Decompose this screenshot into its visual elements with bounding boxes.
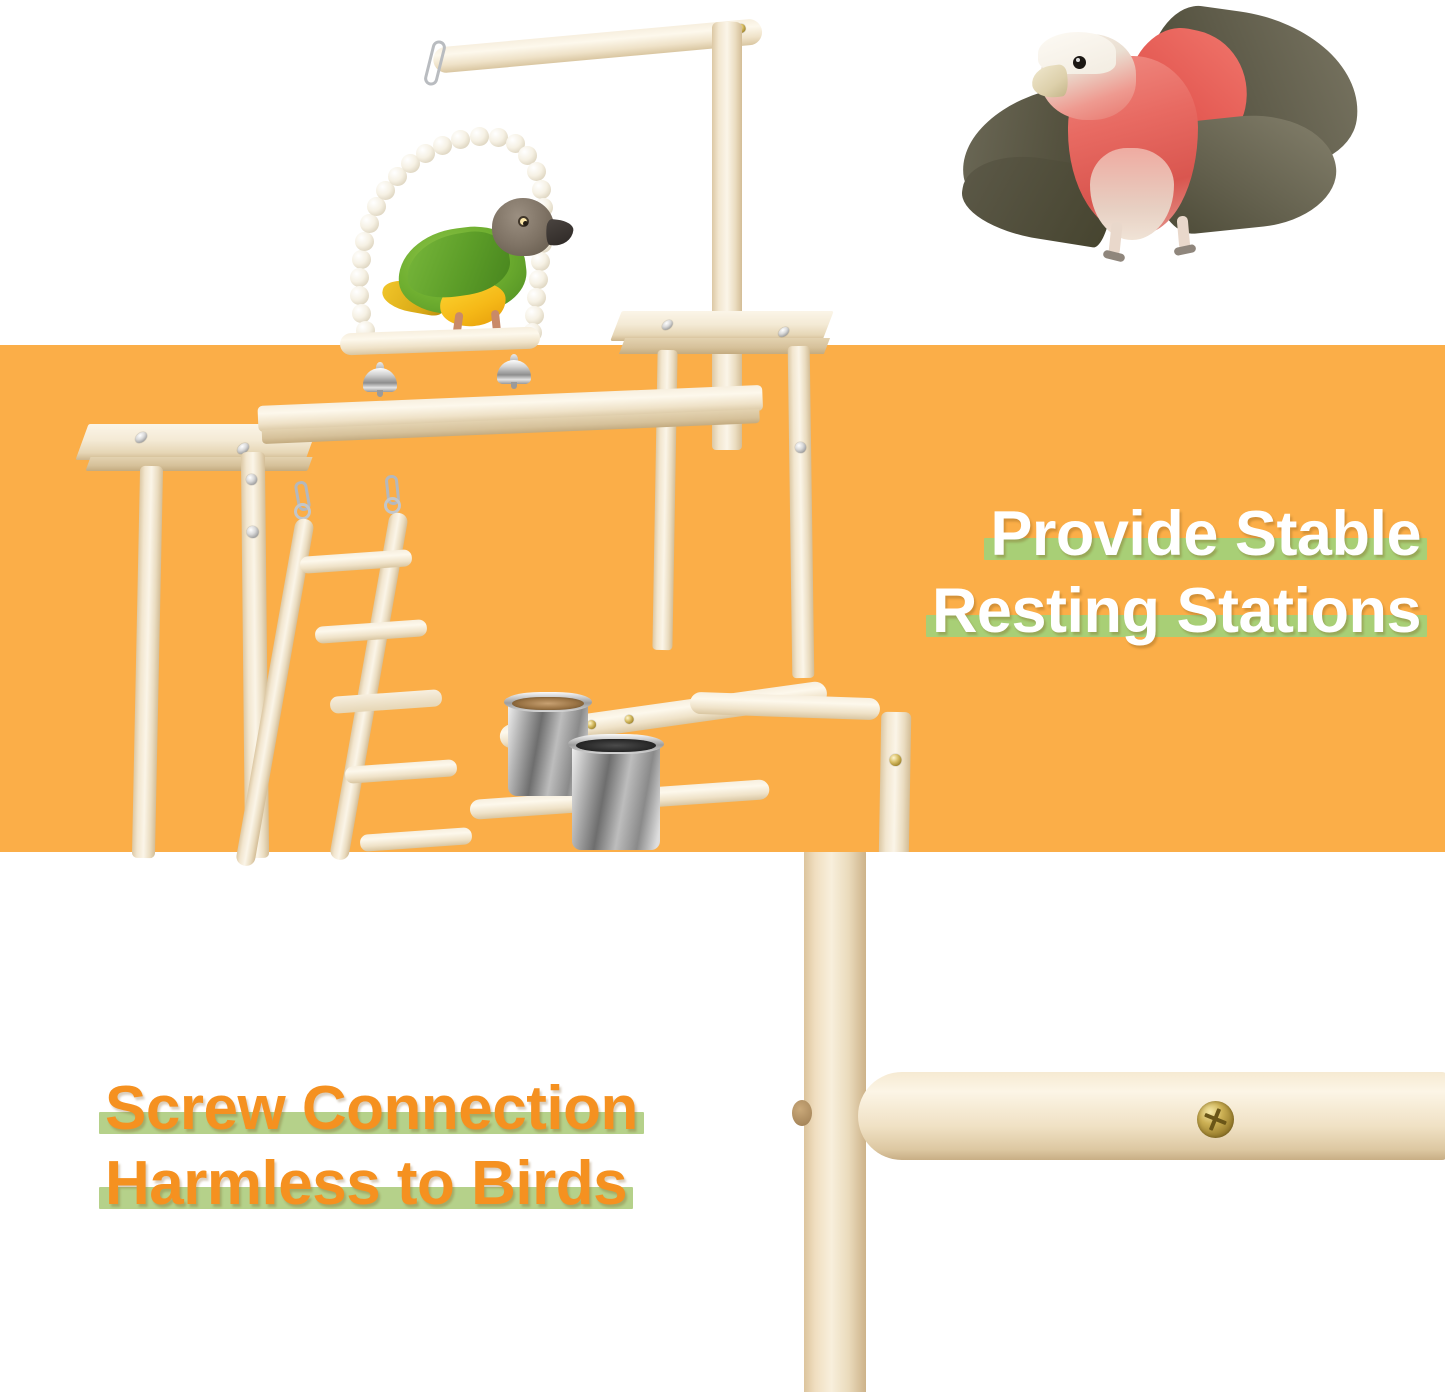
right-leg-back [788, 346, 815, 678]
left-leg-front [132, 466, 163, 858]
galah-claw-right [1173, 244, 1196, 256]
screw-head-icon [795, 442, 806, 453]
closeup-vertical-post [804, 852, 866, 1392]
closeup-post-peg [792, 1100, 812, 1126]
bell-left-icon [363, 362, 397, 392]
callout-bottom-text-1: Screw Connection [105, 1073, 638, 1144]
bird-stand-photo [0, 0, 900, 852]
screw-head-icon [889, 754, 901, 766]
callout-provide-stable-resting-stations: Provide Stable Resting Stations [932, 498, 1421, 652]
swing-bead [470, 127, 489, 146]
callout-screw-connection-harmless-to-birds: Screw Connection Harmless to Birds [105, 1073, 638, 1223]
screw-closeup-photo [780, 852, 1445, 1392]
screw-head-icon [777, 327, 791, 337]
parrot-head [492, 198, 554, 256]
swing-bead [433, 136, 452, 155]
brass-screw-icon [1197, 1101, 1234, 1138]
swing-bead [451, 130, 470, 149]
product-infographic: Provide Stable Resting Stations Screw Co… [0, 0, 1445, 1392]
swing-bead [527, 162, 546, 181]
galah-claw-left [1102, 249, 1125, 262]
callout-top-line-1: Provide Stable [990, 498, 1421, 570]
bell-right-icon [497, 354, 531, 384]
callout-bottom-text-2: Harmless to Birds [105, 1148, 627, 1219]
swing-bead [352, 250, 371, 269]
swing-bead [352, 304, 371, 323]
callout-bottom-line-1: Screw Connection [105, 1073, 638, 1144]
screw-head-icon [247, 526, 259, 538]
screw-head-icon [246, 474, 257, 485]
feeding-cup-water [572, 742, 660, 850]
left-platform-edge [85, 457, 312, 471]
right-perch-post [879, 712, 912, 863]
swing-bead [355, 232, 374, 251]
main-vertical-post [712, 22, 742, 352]
screw-head-icon [660, 320, 674, 330]
swing-bead [360, 214, 379, 233]
parrot-eye [518, 216, 529, 227]
callout-bottom-line-2: Harmless to Birds [105, 1148, 627, 1219]
parrot-beak [545, 219, 575, 248]
screw-head-icon [624, 714, 634, 724]
senegal-parrot [388, 190, 578, 350]
upper-right-platform [610, 311, 834, 341]
ladder-rung [360, 827, 473, 852]
swing-bead [350, 268, 369, 287]
closeup-dowel-perch [858, 1072, 1445, 1160]
galah-cockatoo-photo [960, 8, 1360, 283]
callout-top-text-1: Provide Stable [990, 498, 1421, 570]
ladder-ring-right-icon [384, 497, 401, 514]
callout-top-line-2: Resting Stations [932, 575, 1421, 647]
callout-top-text-2: Resting Stations [932, 575, 1421, 647]
galah-eye [1073, 56, 1086, 69]
ladder-rung [330, 689, 443, 714]
screw-head-icon [134, 432, 149, 443]
ladder-ring-left-icon [294, 503, 311, 520]
swing-bead [350, 286, 369, 305]
